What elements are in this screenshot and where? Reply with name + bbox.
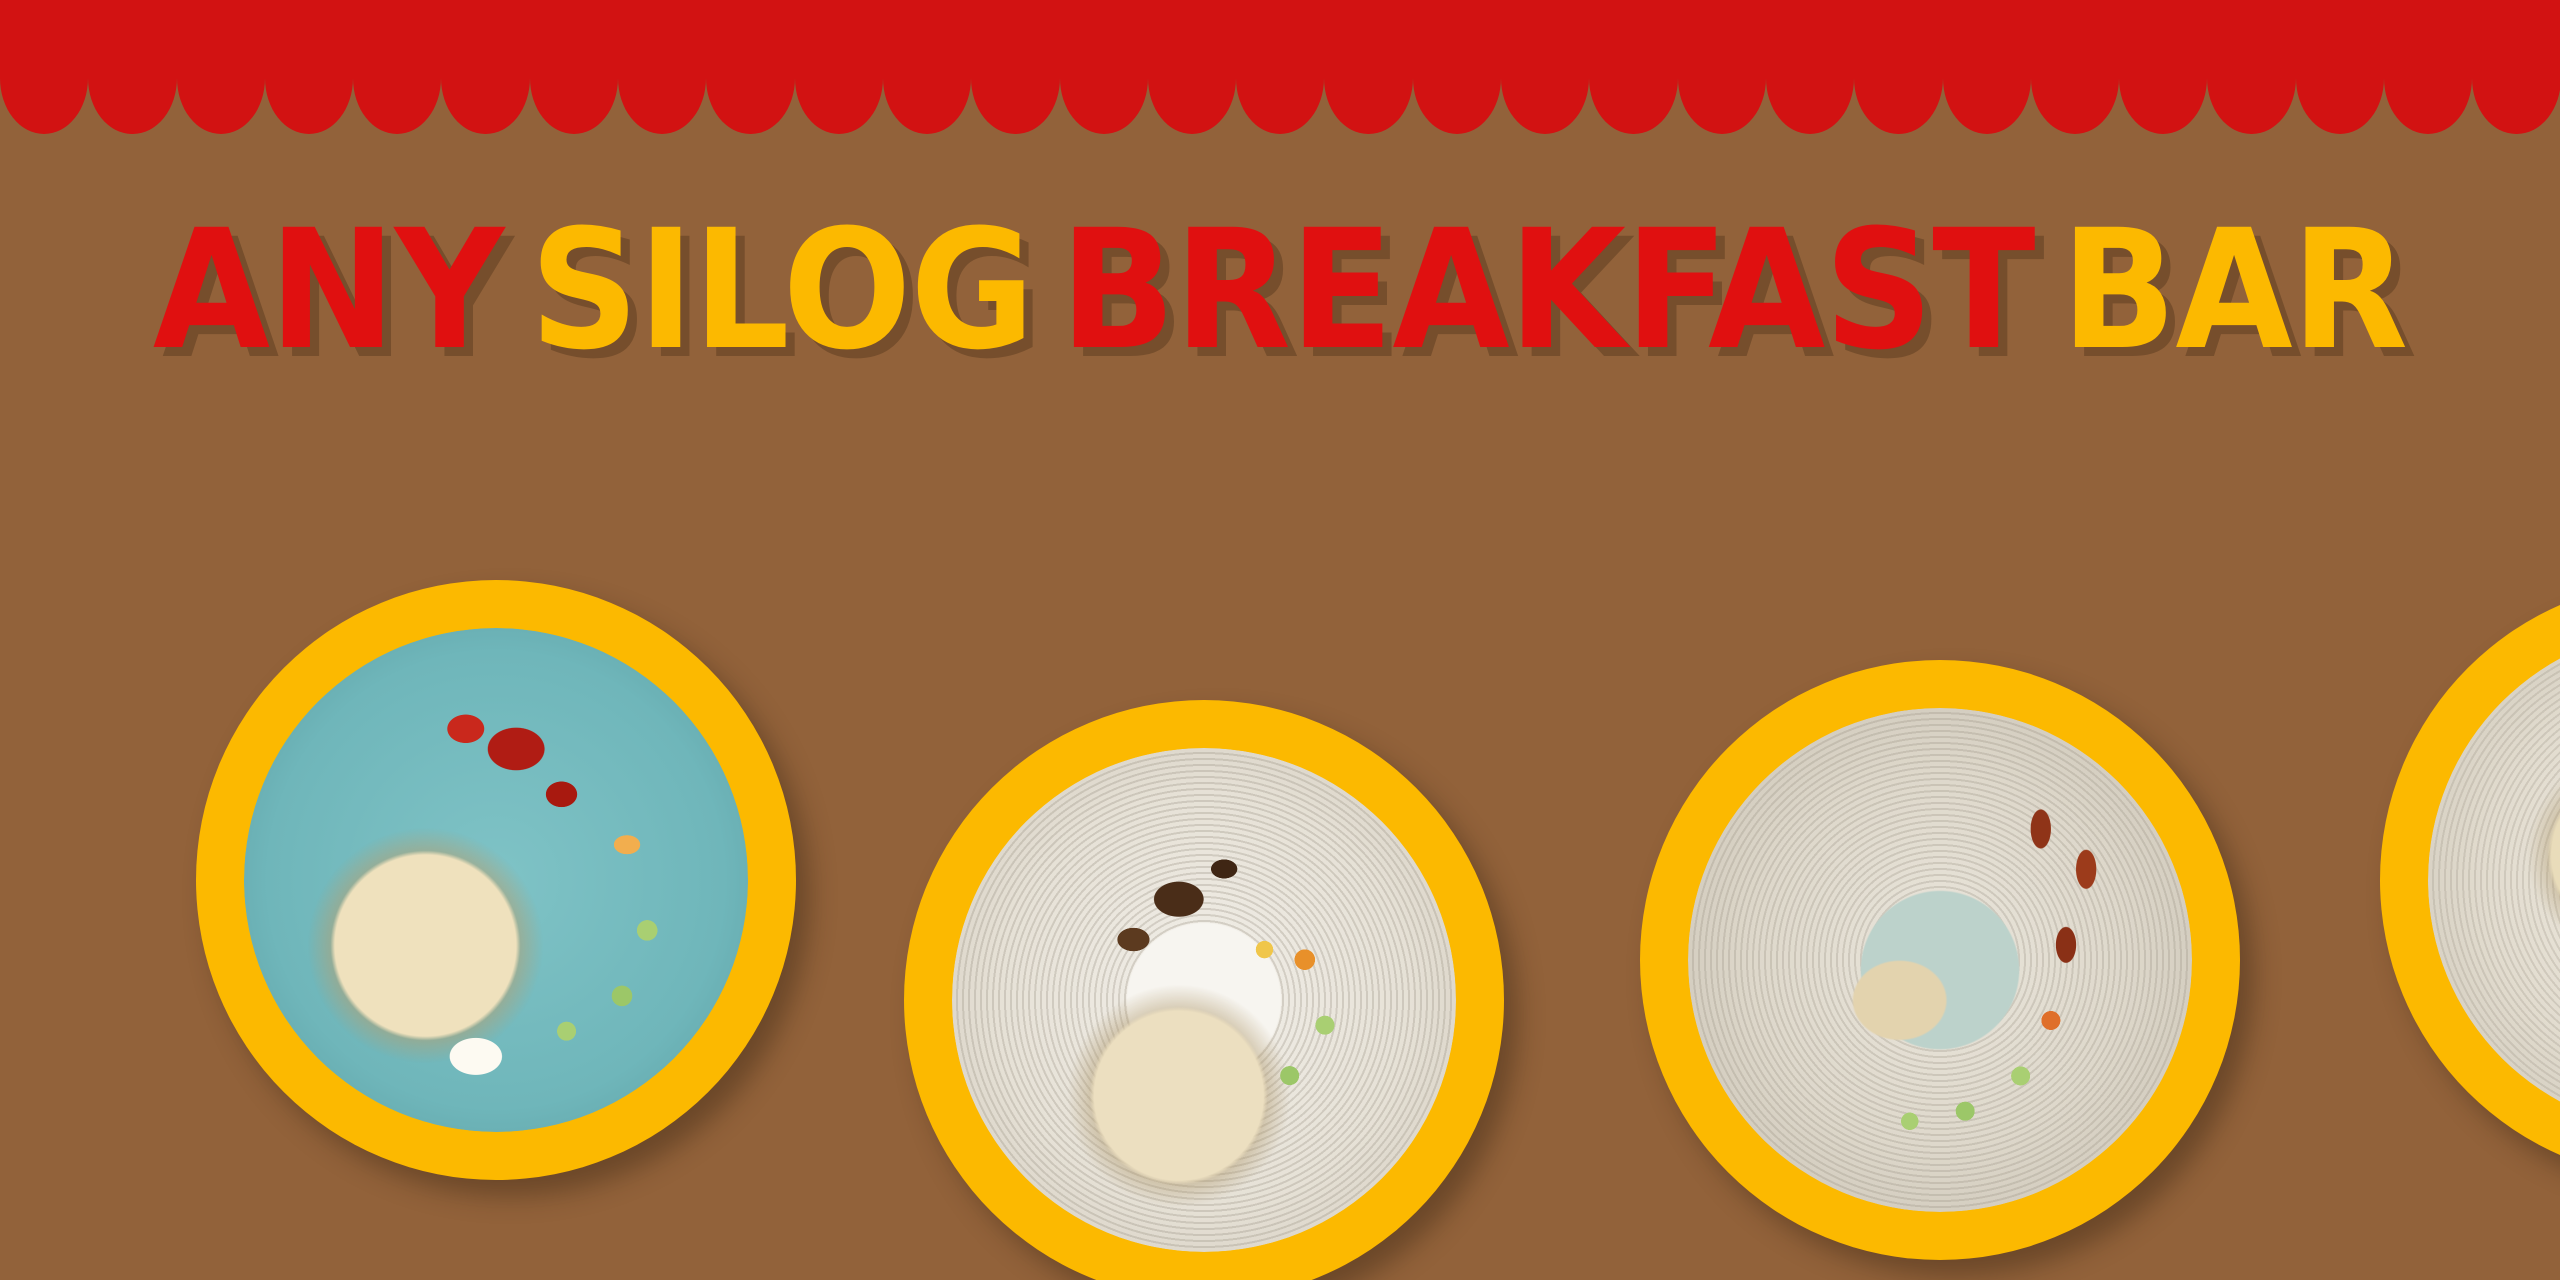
scallop — [2119, 78, 2207, 134]
scallop — [2031, 78, 2119, 134]
scallop — [1148, 78, 1236, 134]
dish-photo-longsilog — [1688, 708, 2192, 1212]
title-word-bar: BAR — [2061, 194, 2407, 386]
scallop — [1943, 78, 2031, 134]
scallop — [2384, 78, 2472, 134]
scallop — [1766, 78, 1854, 134]
page-title: ANYSILOGBREAKFASTBAR — [0, 208, 2560, 373]
scallop — [1236, 78, 1324, 134]
title-word-silog: SILOG — [530, 194, 1034, 386]
scallop — [1501, 78, 1589, 134]
scallop — [265, 78, 353, 134]
dish-photo-tocilog — [244, 628, 748, 1132]
scallop — [1324, 78, 1412, 134]
title-word-breakfast: BREAKFAST — [1060, 194, 2034, 386]
title-word-any: ANY — [153, 194, 503, 386]
scallop — [795, 78, 883, 134]
dish-circle-bangsilog[interactable] — [2380, 580, 2560, 1180]
scallop — [883, 78, 971, 134]
scallop — [353, 78, 441, 134]
dish-circle-longsilog[interactable] — [1640, 660, 2240, 1260]
top-red-band — [0, 0, 2560, 78]
scallop — [1589, 78, 1677, 134]
scallop — [2296, 78, 2384, 134]
scallop-edge — [0, 78, 2560, 134]
scallop — [1854, 78, 1942, 134]
scallop — [2207, 78, 2295, 134]
poster-canvas: ANYSILOGBREAKFASTBAR TOCILOG — [0, 0, 2560, 1280]
scallop — [0, 78, 88, 134]
scallop — [2472, 78, 2560, 134]
scallop — [1678, 78, 1766, 134]
scallop — [177, 78, 265, 134]
dish-circle-tapsilog[interactable] — [904, 700, 1504, 1280]
dish-photo-tapsilog — [952, 748, 1456, 1252]
scallop — [706, 78, 794, 134]
scallop — [441, 78, 529, 134]
scallop — [971, 78, 1059, 134]
scallop — [530, 78, 618, 134]
dish-circle-tocilog[interactable] — [196, 580, 796, 1180]
scallop — [1413, 78, 1501, 134]
scallop — [618, 78, 706, 134]
scallop — [88, 78, 176, 134]
scallop — [1060, 78, 1148, 134]
